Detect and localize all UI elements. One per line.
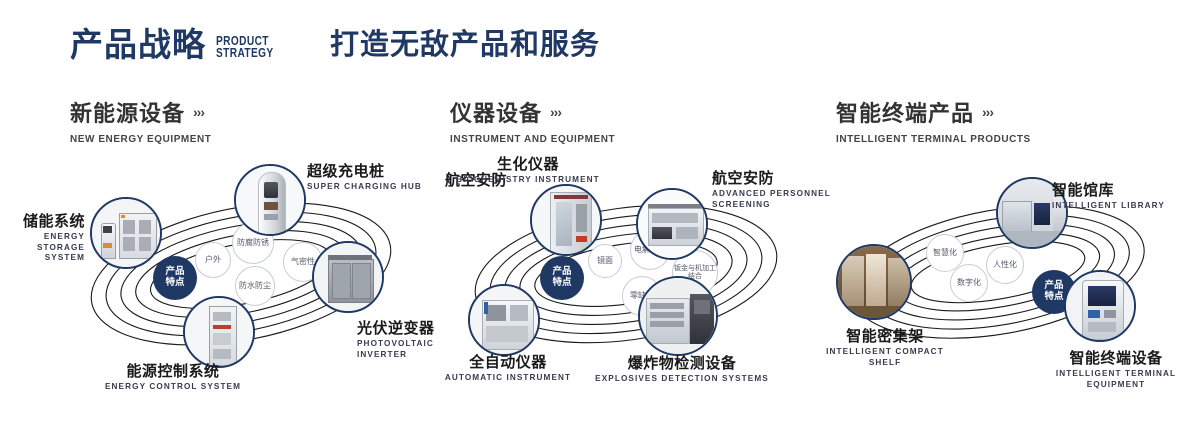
poster-canvas: 产品战略 PRODUCT STRATEGY 打造无敌产品和服务 新能源设备›››… — [0, 0, 1200, 422]
caption-biochemistry-instrument: 生化仪器 BIOCHEMISTRY INSTRUMENT — [448, 156, 608, 186]
caption-cn: 智能终端设备 — [1032, 350, 1200, 367]
caption-energy-control-system: 能源控制系统 ENERGY CONTROL SYSTEM — [83, 363, 263, 393]
section-title-cn: 新能源设备 — [70, 96, 185, 128]
page-title-english-line2: STRATEGY — [216, 47, 274, 59]
caption-cn: 爆炸物检测设备 — [592, 355, 772, 372]
orbit-group-intelligent-terminal: 智慧化 数字化 人性化 产品 特点 智能馆库 INTELLIGENT LIBRA… — [820, 160, 1200, 390]
caption-en: ENERGY CONTROL SYSTEM — [83, 382, 263, 392]
node-energy-control-system[interactable] — [183, 296, 255, 368]
section-title-cn: 智能终端产品 — [836, 96, 974, 128]
caption-cn: 智能馆库 — [1052, 182, 1192, 199]
caption-cn: 生化仪器 — [448, 156, 608, 173]
caption-intelligent-compact-shelf: 智能密集架 INTELLIGENT COMPACT SHELF — [810, 328, 960, 368]
core-bubble-line2: 特点 — [552, 278, 571, 289]
section-heading-new-energy: 新能源设备››› NEW ENERGY EQUIPMENT — [70, 96, 219, 145]
caption-en: BIOCHEMISTRY INSTRUMENT — [448, 175, 608, 185]
page-title-english: PRODUCT STRATEGY — [216, 35, 274, 59]
caption-en: INTELLIGENT TERMINAL EQUIPMENT — [1032, 369, 1200, 390]
node-explosives-detection-systems[interactable] — [638, 276, 718, 356]
section-title-en: INSTRUMENT AND EQUIPMENT — [450, 133, 615, 145]
caption-en: AUTOMATIC INSTRUMENT — [422, 373, 594, 383]
node-biochemistry-instrument[interactable] — [530, 184, 602, 256]
node-advanced-personnel-screening[interactable] — [636, 188, 708, 260]
section-title-en: INTELLIGENT TERMINAL PRODUCTS — [836, 133, 1031, 145]
feature-bubble: 人性化 — [986, 246, 1024, 284]
node-intelligent-compact-shelf[interactable] — [836, 244, 912, 320]
feature-bubble: 数字化 — [950, 264, 988, 302]
node-energy-storage-system[interactable] — [90, 197, 162, 269]
node-super-charging-hub[interactable] — [234, 164, 306, 236]
caption-en: ENERGY STORAGE SYSTEM — [0, 232, 85, 263]
chevron-right-icon: ››› — [193, 104, 204, 120]
caption-cn: 智能密集架 — [810, 328, 960, 345]
caption-automatic-instrument: 全自动仪器 AUTOMATIC INSTRUMENT — [422, 354, 594, 384]
caption-energy-storage-system: 储能系统 ENERGY STORAGE SYSTEM — [0, 213, 85, 263]
section-heading-instrument: 仪器设备››› INSTRUMENT AND EQUIPMENT — [450, 96, 624, 145]
feature-bubble: 户外 — [195, 242, 231, 278]
node-automatic-instrument[interactable] — [468, 284, 540, 356]
caption-cn: 能源控制系统 — [83, 363, 263, 380]
core-bubble-product-features: 产品 特点 — [540, 256, 584, 300]
caption-explosives-detection-systems: 爆炸物检测设备 EXPLOSIVES DETECTION SYSTEMS — [592, 355, 772, 385]
section-title-en: NEW ENERGY EQUIPMENT — [70, 133, 211, 145]
node-intelligent-terminal-equipment[interactable] — [1064, 270, 1136, 342]
page-title: 产品战略 — [70, 28, 206, 61]
core-bubble-line2: 特点 — [1044, 292, 1063, 303]
section-title-cn: 仪器设备 — [450, 96, 542, 128]
poster-header: 产品战略 PRODUCT STRATEGY — [70, 28, 290, 61]
caption-intelligent-terminal-equipment: 智能终端设备 INTELLIGENT TERMINAL EQUIPMENT — [1032, 350, 1200, 390]
caption-en: EXPLOSIVES DETECTION SYSTEMS — [592, 374, 772, 384]
caption-en: INTELLIGENT COMPACT SHELF — [810, 347, 960, 368]
section-heading-intelligent-terminal: 智能终端产品››› INTELLIGENT TERMINAL PRODUCTS — [836, 96, 1041, 145]
chevron-right-icon: ››› — [550, 104, 561, 120]
node-photovoltaic-inverter[interactable] — [312, 241, 384, 313]
core-bubble-line2: 特点 — [165, 278, 184, 289]
caption-cn: 储能系统 — [0, 213, 85, 230]
caption-cn: 全自动仪器 — [422, 354, 594, 371]
caption-intelligent-library: 智能馆库 INTELLIGENT LIBRARY — [1052, 182, 1192, 212]
orbit-group-instrument: 镜面 电解抛光 钣金与机加工结合 零缺陷 产品 特点 航空安防 生 — [440, 150, 840, 390]
chevron-right-icon: ››› — [982, 104, 993, 120]
page-subtitle: 打造无敌产品和服务 — [330, 30, 600, 62]
caption-en: INTELLIGENT LIBRARY — [1052, 201, 1192, 211]
